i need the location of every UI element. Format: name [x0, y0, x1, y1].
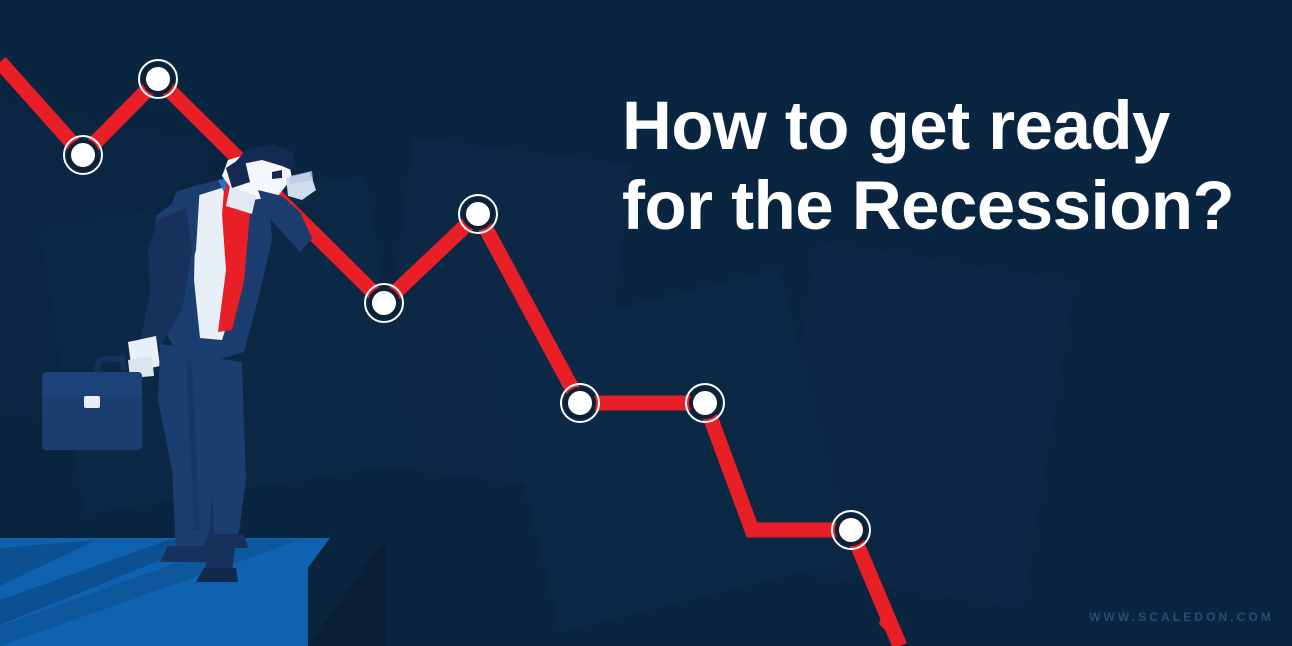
banner-canvas: How to get ready for the Recession? WWW.…: [0, 0, 1292, 646]
chart-node-7: [832, 511, 870, 549]
watermark-url: WWW.SCALEDON.COM: [1089, 610, 1274, 624]
chart-node-3: [365, 284, 403, 322]
headline-line-1: How to get ready: [622, 86, 1172, 166]
chart-node-1: [64, 136, 102, 174]
businessman-figure: [42, 144, 316, 582]
briefcase-handle: [96, 358, 124, 372]
chart-node-4: [459, 195, 497, 233]
shoe-second: [202, 534, 248, 548]
headline: How to get ready for the Recession?: [622, 86, 1222, 246]
briefcase-latch: [84, 396, 100, 408]
chart-node-6: [686, 384, 724, 422]
briefcase-flap: [42, 372, 142, 398]
shoe-front: [160, 546, 214, 562]
headline-line-2: for the Recession?: [622, 166, 1172, 246]
ledge-edge-dark-2: [308, 538, 385, 646]
briefcase: [42, 358, 142, 450]
chart-node-5: [561, 384, 599, 422]
chart-node-2: [139, 60, 177, 98]
